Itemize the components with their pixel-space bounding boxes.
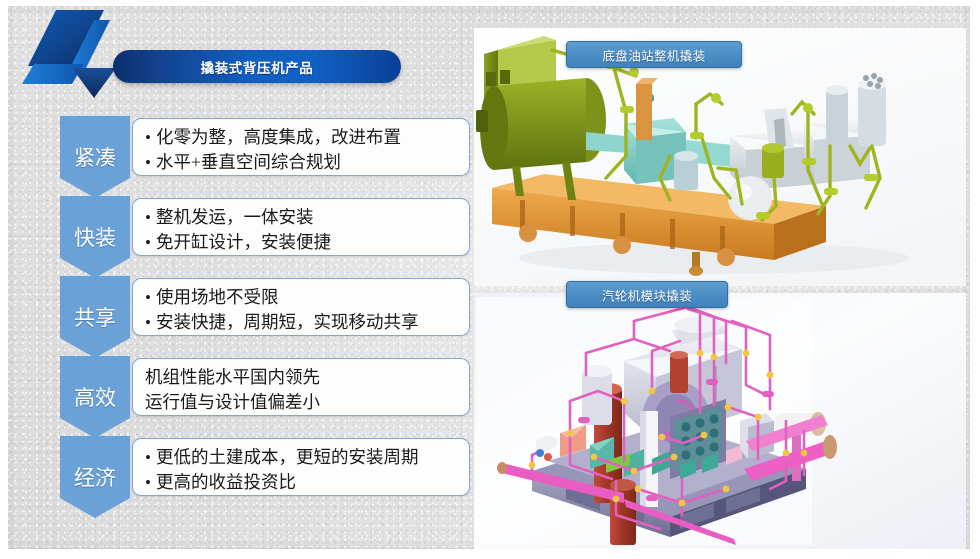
feature-text-box: 更低的土建成本，更短的安装周期更高的收益投资比 [132, 438, 470, 496]
photo-caption-2: 汽轮机模块撬装 [566, 281, 728, 308]
feature-text-box: 整机发运，一体安装免开缸设计，安装便捷 [132, 198, 470, 256]
feature-bullet-line: 整机发运，一体安装 [145, 205, 459, 230]
photo-turbine-module [474, 293, 966, 549]
feature-label: 快装 [60, 222, 130, 252]
slide-title-banner: 撬装式背压机产品 [113, 50, 401, 83]
feature-bullet-line: 安装快捷，周期短，实现移动共享 [145, 310, 459, 335]
feature-bullet-line: 运行值与设计值偏差小 [145, 390, 459, 415]
feature-bullet-line: 免开缸设计，安装便捷 [145, 230, 459, 255]
feature-bullet-line: 机组性能水平国内领先 [145, 365, 459, 390]
chevron-down-icon [60, 498, 130, 518]
feature-list: 紧凑化零为整，高度集成，改进布置水平+垂直空间综合规划快装整机发运，一体安装免开… [60, 116, 470, 516]
chevron-down-icon [60, 178, 130, 198]
feature-bullet-line: 水平+垂直空间综合规划 [145, 150, 459, 175]
chevron-down-icon [60, 338, 130, 358]
feature-bullet-line: 化零为整，高度集成，改进布置 [145, 125, 459, 150]
feature-text-box: 机组性能水平国内领先运行值与设计值偏差小 [132, 358, 470, 416]
caption-text: 汽轮机模块撬装 [567, 285, 727, 304]
feature-text-box: 使用场地不受限安装快捷，周期短，实现移动共享 [132, 278, 470, 336]
caption-text: 底盘油站整机撬装 [567, 45, 741, 64]
feature-text-box: 化零为整，高度集成，改进布置水平+垂直空间综合规划 [132, 118, 470, 176]
photo-caption-1: 底盘油站整机撬装 [566, 41, 742, 68]
chevron-down-icon [60, 418, 130, 438]
feature-label: 经济 [60, 462, 130, 492]
feature-label: 紧凑 [60, 142, 130, 172]
feature-bullet-line: 更高的收益投资比 [145, 470, 459, 495]
chevron-down-icon [60, 258, 130, 278]
feature-bullet-line: 更低的土建成本，更短的安装周期 [145, 445, 459, 470]
page-title: 撬装式背压机产品 [113, 57, 401, 77]
feature-bullet-line: 使用场地不受限 [145, 285, 459, 310]
feature-label: 共享 [60, 302, 130, 332]
presentation-slide: 撬装式背压机产品 紧凑化零为整，高度集成，改进布置水平+垂直空间综合规划快装整机… [0, 0, 980, 559]
feature-label: 高效 [60, 382, 130, 412]
